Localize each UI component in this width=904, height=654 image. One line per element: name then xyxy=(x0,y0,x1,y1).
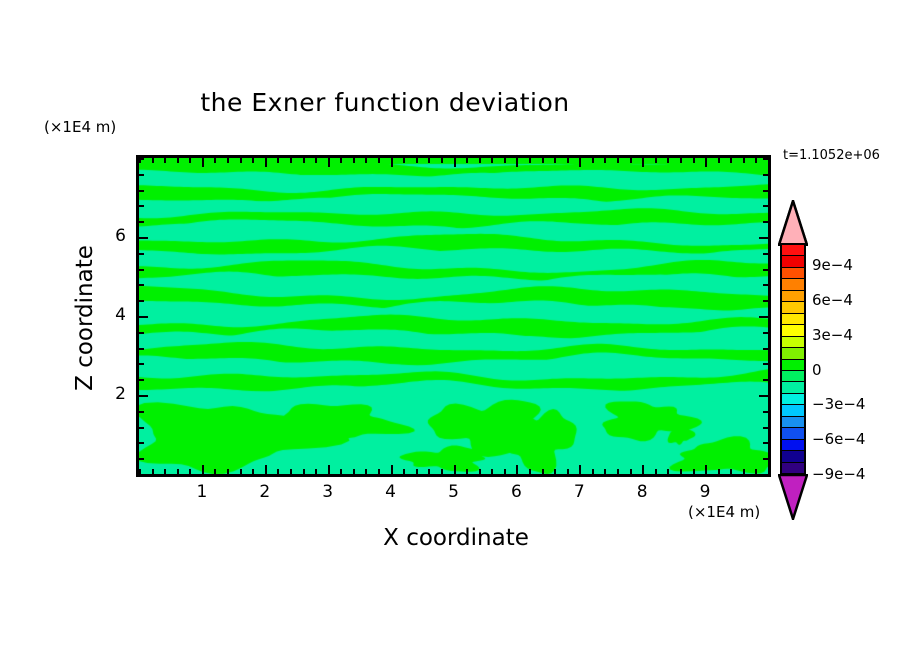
x-axis-tick xyxy=(378,469,380,474)
x-axis-tick xyxy=(755,158,757,163)
x-axis-tick xyxy=(466,469,468,474)
y-axis-tick xyxy=(763,253,768,255)
x-axis-tick xyxy=(642,158,644,167)
colorbar-tick-label: 3e−4 xyxy=(812,326,853,344)
x-axis-tick xyxy=(265,465,267,474)
x-axis-tick xyxy=(265,158,267,167)
x-axis-tick xyxy=(542,469,544,474)
x-axis-tick xyxy=(428,469,430,474)
y-axis-tick xyxy=(139,221,144,223)
y-axis-tick xyxy=(763,363,768,365)
x-axis-tick xyxy=(365,158,367,163)
x-axis-tick xyxy=(479,469,481,474)
x-axis-tick xyxy=(303,158,305,163)
x-axis-tick xyxy=(642,465,644,474)
x-axis-tick xyxy=(189,158,191,163)
x-axis-tick xyxy=(693,158,695,163)
x-axis-tick xyxy=(554,469,556,474)
timestamp-annotation: t=1.1052e+06 xyxy=(783,148,880,163)
colorbar-band-8 xyxy=(782,337,804,348)
x-axis-title: X coordinate xyxy=(206,525,706,551)
x-axis-tick xyxy=(353,469,355,474)
x-axis-tick xyxy=(718,158,720,163)
x-axis-tick xyxy=(718,469,720,474)
x-axis-tick xyxy=(152,469,154,474)
x-axis-tick xyxy=(365,469,367,474)
x-axis-tick xyxy=(479,158,481,163)
x-axis-tick xyxy=(604,469,606,474)
x-axis-tick xyxy=(730,158,732,163)
y-axis-tick xyxy=(139,190,144,192)
x-axis-tick-label: 9 xyxy=(690,482,720,502)
colorbar-band-0 xyxy=(782,245,804,256)
colorbar-tick-label: −6e−4 xyxy=(812,430,865,448)
x-axis-tick xyxy=(378,158,380,163)
y-axis-tick xyxy=(763,269,768,271)
y-axis-tick xyxy=(139,174,144,176)
x-axis-tick xyxy=(416,158,418,163)
colorbar-band-14 xyxy=(782,405,804,416)
x-axis-tick xyxy=(454,465,456,474)
y-axis-tick xyxy=(139,442,144,444)
colorbar xyxy=(780,243,806,475)
colorbar-tick-label: −9e−4 xyxy=(812,465,865,483)
y-axis-tick xyxy=(763,427,768,429)
y-axis-tick xyxy=(759,395,768,397)
x-axis-tick xyxy=(152,158,154,163)
x-axis-tick xyxy=(768,158,770,163)
x-axis-tick xyxy=(542,158,544,163)
x-axis-tick-label: 5 xyxy=(439,482,469,502)
x-axis-tick xyxy=(214,469,216,474)
contour-plot-area xyxy=(136,155,771,477)
colorbar-band-1 xyxy=(782,256,804,267)
x-axis-unit-label: (×1E4 m) xyxy=(688,503,760,521)
x-axis-tick xyxy=(743,158,745,163)
y-axis-tick xyxy=(763,221,768,223)
x-axis-tick-label: 2 xyxy=(250,482,280,502)
y-axis-tick xyxy=(763,174,768,176)
x-axis-tick xyxy=(516,465,518,474)
page-title: the Exner function deviation xyxy=(0,88,770,117)
colorbar-band-3 xyxy=(782,279,804,290)
y-axis-tick xyxy=(139,300,144,302)
y-axis-tick-label: 4 xyxy=(96,305,126,325)
x-axis-tick xyxy=(277,469,279,474)
x-axis-tick xyxy=(491,158,493,163)
x-axis-tick xyxy=(252,469,254,474)
x-axis-tick xyxy=(189,469,191,474)
x-axis-tick xyxy=(240,469,242,474)
x-axis-tick-label: 1 xyxy=(187,482,217,502)
x-axis-tick xyxy=(353,158,355,163)
x-axis-tick xyxy=(290,469,292,474)
colorbar-tick-label: 0 xyxy=(812,361,822,379)
x-axis-tick xyxy=(579,158,581,167)
x-axis-tick xyxy=(617,469,619,474)
x-axis-tick xyxy=(303,469,305,474)
x-axis-tick xyxy=(441,469,443,474)
colorbar-band-6 xyxy=(782,314,804,325)
x-axis-tick xyxy=(705,158,707,167)
y-axis-unit-label: (×1E4 m) xyxy=(44,118,116,136)
x-axis-tick xyxy=(554,158,556,163)
y-axis-tick xyxy=(763,474,768,476)
x-axis-tick xyxy=(667,158,669,163)
y-axis-tick-label: 2 xyxy=(96,384,126,404)
x-axis-tick xyxy=(252,158,254,163)
y-axis-tick xyxy=(763,348,768,350)
x-axis-tick xyxy=(202,465,204,474)
x-axis-tick xyxy=(755,469,757,474)
x-axis-tick xyxy=(630,158,632,163)
colorbar-band-2 xyxy=(782,268,804,279)
y-axis-title: Z coordinate xyxy=(72,198,98,438)
colorbar-band-13 xyxy=(782,394,804,405)
y-axis-tick xyxy=(763,205,768,207)
y-axis-tick xyxy=(139,237,148,239)
x-axis-tick xyxy=(391,158,393,167)
y-axis-tick xyxy=(139,205,144,207)
y-axis-tick xyxy=(139,411,144,413)
x-axis-tick xyxy=(403,158,405,163)
x-axis-tick xyxy=(227,469,229,474)
x-axis-tick xyxy=(315,469,317,474)
y-axis-tick xyxy=(139,379,144,381)
x-axis-tick xyxy=(491,469,493,474)
x-axis-tick xyxy=(504,158,506,163)
y-axis-tick xyxy=(139,332,144,334)
x-axis-tick xyxy=(655,469,657,474)
x-axis-tick xyxy=(416,469,418,474)
x-axis-tick xyxy=(529,469,531,474)
x-axis-tick xyxy=(592,469,594,474)
colorbar-band-17 xyxy=(782,440,804,451)
x-axis-tick xyxy=(680,158,682,163)
x-axis-tick xyxy=(743,469,745,474)
y-axis-tick xyxy=(139,474,144,476)
y-axis-tick xyxy=(139,269,144,271)
colorbar-band-4 xyxy=(782,291,804,302)
x-axis-tick xyxy=(454,158,456,167)
x-axis-tick-label: 8 xyxy=(627,482,657,502)
x-axis-tick xyxy=(516,158,518,167)
colorbar-cap-top-icon xyxy=(778,200,808,246)
x-axis-tick xyxy=(328,465,330,474)
y-axis-tick xyxy=(763,332,768,334)
y-axis-tick xyxy=(139,348,144,350)
x-axis-tick xyxy=(202,158,204,167)
x-axis-tick xyxy=(504,469,506,474)
y-axis-tick xyxy=(139,316,148,318)
x-axis-tick-label: 6 xyxy=(501,482,531,502)
y-axis-tick xyxy=(139,427,144,429)
colorbar-cap-bottom-icon xyxy=(778,474,808,520)
x-axis-tick xyxy=(680,469,682,474)
y-axis-tick xyxy=(763,284,768,286)
colorbar-band-18 xyxy=(782,451,804,462)
x-axis-tick xyxy=(277,158,279,163)
y-axis-tick xyxy=(139,395,148,397)
x-axis-tick xyxy=(693,469,695,474)
x-axis-tick xyxy=(529,158,531,163)
x-axis-tick xyxy=(428,158,430,163)
x-axis-tick xyxy=(466,158,468,163)
x-axis-tick xyxy=(617,158,619,163)
x-axis-tick xyxy=(604,158,606,163)
x-axis-tick xyxy=(164,469,166,474)
x-axis-tick xyxy=(177,469,179,474)
x-axis-tick xyxy=(403,469,405,474)
colorbar-band-10 xyxy=(782,360,804,371)
contour-field xyxy=(139,158,768,474)
x-axis-tick xyxy=(340,158,342,163)
x-axis-tick xyxy=(315,158,317,163)
x-axis-tick xyxy=(667,469,669,474)
y-axis-tick xyxy=(139,158,144,160)
x-axis-tick xyxy=(177,158,179,163)
x-axis-tick xyxy=(630,469,632,474)
x-axis-tick xyxy=(240,158,242,163)
x-axis-tick xyxy=(579,465,581,474)
colorbar-tick-label: −3e−4 xyxy=(812,395,865,413)
x-axis-tick xyxy=(567,158,569,163)
x-axis-tick xyxy=(730,469,732,474)
x-axis-tick xyxy=(164,158,166,163)
y-axis-tick xyxy=(763,379,768,381)
x-axis-tick xyxy=(768,469,770,474)
y-axis-tick xyxy=(759,237,768,239)
x-axis-tick-label: 4 xyxy=(376,482,406,502)
y-axis-tick xyxy=(139,253,144,255)
x-axis-tick xyxy=(290,158,292,163)
x-axis-tick xyxy=(655,158,657,163)
y-axis-tick xyxy=(763,300,768,302)
colorbar-tick-label: 9e−4 xyxy=(812,256,853,274)
y-axis-tick xyxy=(763,442,768,444)
colorbar-band-9 xyxy=(782,348,804,359)
x-axis-tick xyxy=(441,158,443,163)
y-axis-tick xyxy=(139,363,144,365)
y-axis-tick xyxy=(763,190,768,192)
y-axis-tick xyxy=(763,458,768,460)
x-axis-tick xyxy=(705,465,707,474)
colorbar-band-19 xyxy=(782,463,804,473)
x-axis-tick-label: 7 xyxy=(564,482,594,502)
x-axis-tick-label: 3 xyxy=(313,482,343,502)
x-axis-tick xyxy=(328,158,330,167)
x-axis-tick xyxy=(340,469,342,474)
x-axis-tick xyxy=(391,465,393,474)
x-axis-tick xyxy=(227,158,229,163)
colorbar-band-7 xyxy=(782,325,804,336)
y-axis-tick-label: 6 xyxy=(96,226,126,246)
y-axis-tick xyxy=(139,284,144,286)
x-axis-tick xyxy=(214,158,216,163)
x-axis-tick xyxy=(592,158,594,163)
colorbar-tick-label: 6e−4 xyxy=(812,291,853,309)
colorbar-band-12 xyxy=(782,382,804,393)
colorbar-band-5 xyxy=(782,302,804,313)
x-axis-tick xyxy=(567,469,569,474)
colorbar-band-11 xyxy=(782,371,804,382)
colorbar-band-15 xyxy=(782,417,804,428)
y-axis-tick xyxy=(759,316,768,318)
y-axis-tick xyxy=(763,411,768,413)
y-axis-tick xyxy=(763,158,768,160)
y-axis-tick xyxy=(139,458,144,460)
colorbar-band-16 xyxy=(782,428,804,439)
